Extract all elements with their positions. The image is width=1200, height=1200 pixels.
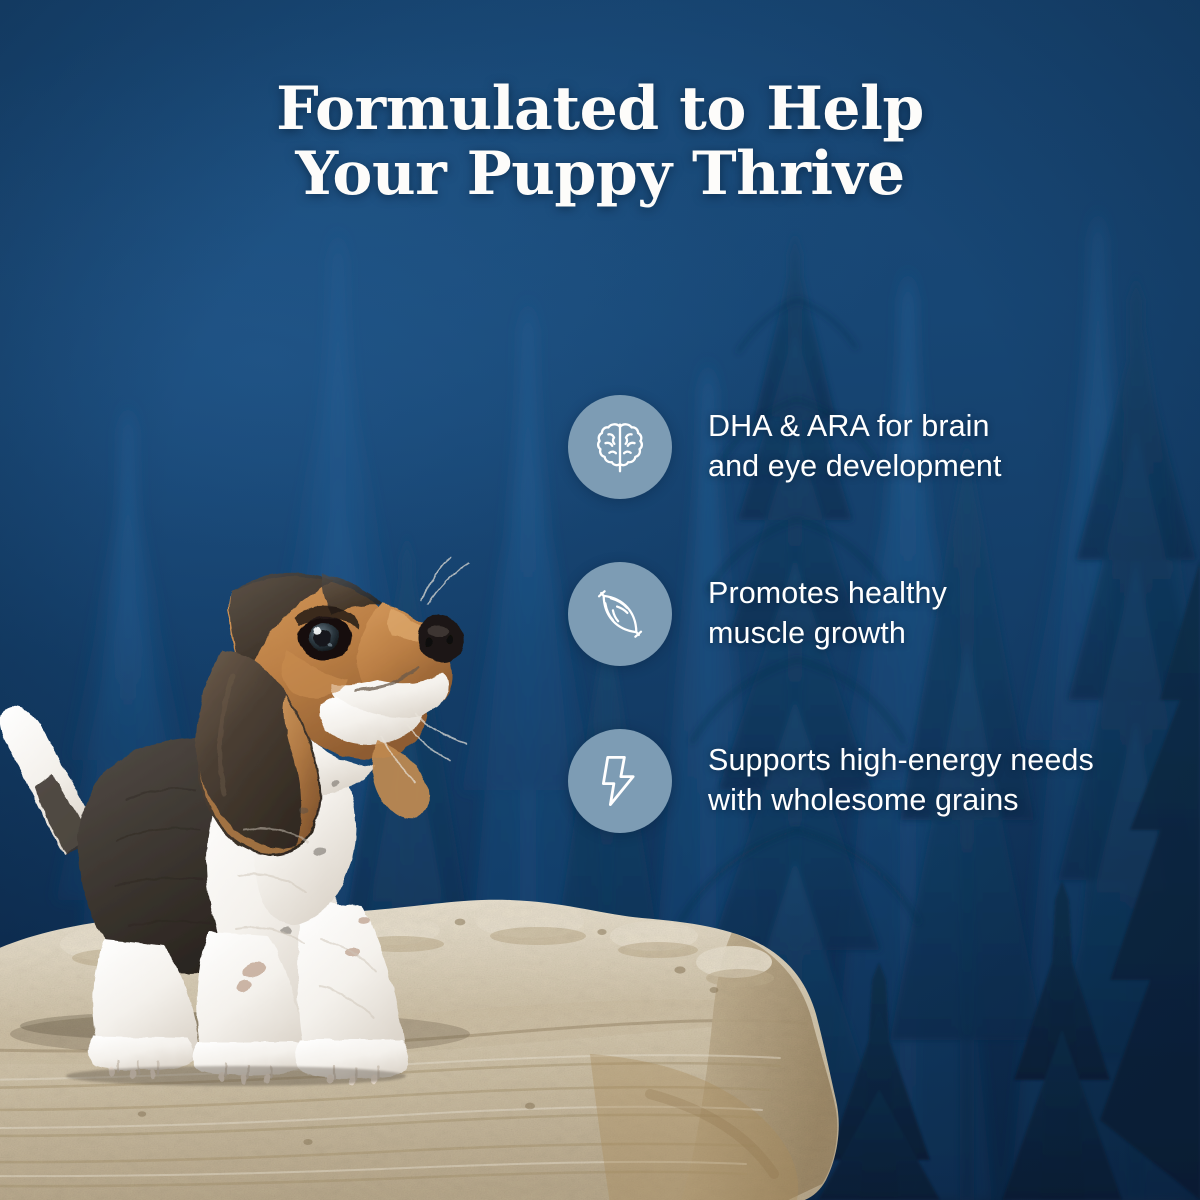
feature-list: DHA & ARA for brain and eye development — [568, 395, 1168, 833]
headline-line-1: Formulated to Help — [40, 80, 1160, 139]
brain-icon — [568, 395, 672, 499]
beagle-puppy — [0, 500, 506, 1110]
headline: Formulated to Help Your Puppy Thrive — [0, 80, 1200, 205]
feature-text: Promotes healthy muscle growth — [708, 574, 947, 653]
feature-item: DHA & ARA for brain and eye development — [568, 395, 1168, 499]
muscle-icon — [568, 562, 672, 666]
feature-item: Promotes healthy muscle growth — [568, 562, 1168, 666]
promo-banner: Formulated to Help Your Puppy Thrive — [0, 0, 1200, 1200]
feature-text: Supports high-energy needs with wholesom… — [708, 741, 1094, 820]
headline-line-2: Your Puppy Thrive — [40, 145, 1160, 204]
feature-text: DHA & ARA for brain and eye development — [708, 407, 1002, 486]
lightning-bolt-icon — [568, 729, 672, 833]
feature-item: Supports high-energy needs with wholesom… — [568, 729, 1168, 833]
